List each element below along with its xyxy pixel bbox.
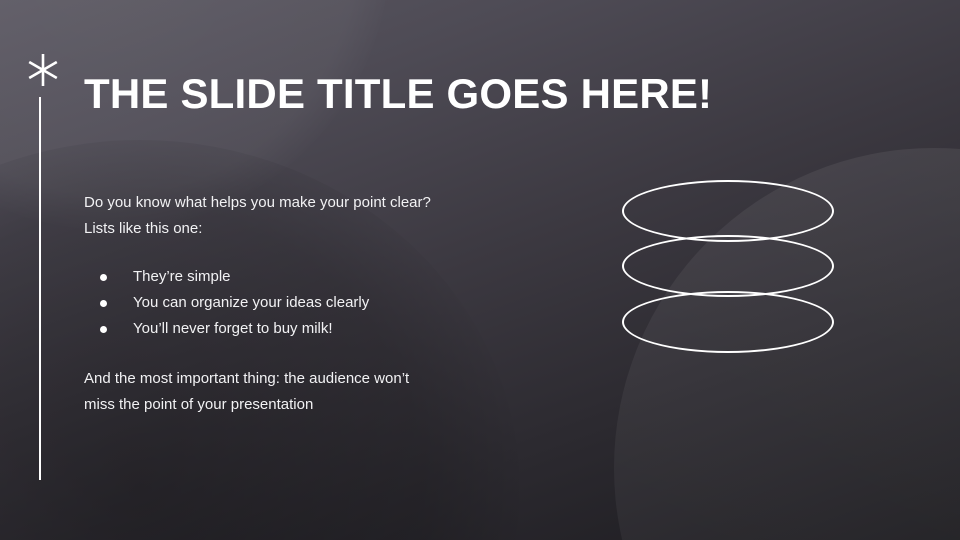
ellipse-ring-top [622, 180, 834, 242]
bullet-list: They’re simple You can organize your ide… [84, 264, 514, 342]
slide-body: Do you know what helps you make your poi… [84, 190, 514, 418]
outro-paragraph: And the most important thing: the audien… [84, 366, 514, 418]
vertical-rule [39, 97, 41, 480]
bullet-dot-icon [100, 300, 107, 307]
page-title: THE SLIDE TITLE GOES HERE! [84, 72, 712, 116]
outro-line: miss the point of your presentation [84, 392, 514, 418]
list-item: You can organize your ideas clearly [84, 290, 514, 316]
outro-line: And the most important thing: the audien… [84, 366, 514, 392]
ellipse-ring-middle [622, 235, 834, 297]
list-item-label: You can organize your ideas clearly [133, 294, 369, 311]
asterisk-icon [26, 50, 60, 90]
bullet-dot-icon [100, 274, 107, 281]
list-item: They’re simple [84, 264, 514, 290]
ellipse-stack-icon [616, 172, 842, 364]
intro-line: Do you know what helps you make your poi… [84, 190, 514, 216]
presentation-slide: THE SLIDE TITLE GOES HERE! Do you know w… [0, 0, 960, 540]
list-item: You’ll never forget to buy milk! [84, 316, 514, 342]
list-item-label: You’ll never forget to buy milk! [133, 320, 333, 337]
list-item-label: They’re simple [133, 268, 231, 285]
bullet-dot-icon [100, 326, 107, 333]
intro-line: Lists like this one: [84, 216, 514, 242]
intro-paragraph: Do you know what helps you make your poi… [84, 190, 514, 242]
ellipse-ring-bottom [622, 291, 834, 353]
